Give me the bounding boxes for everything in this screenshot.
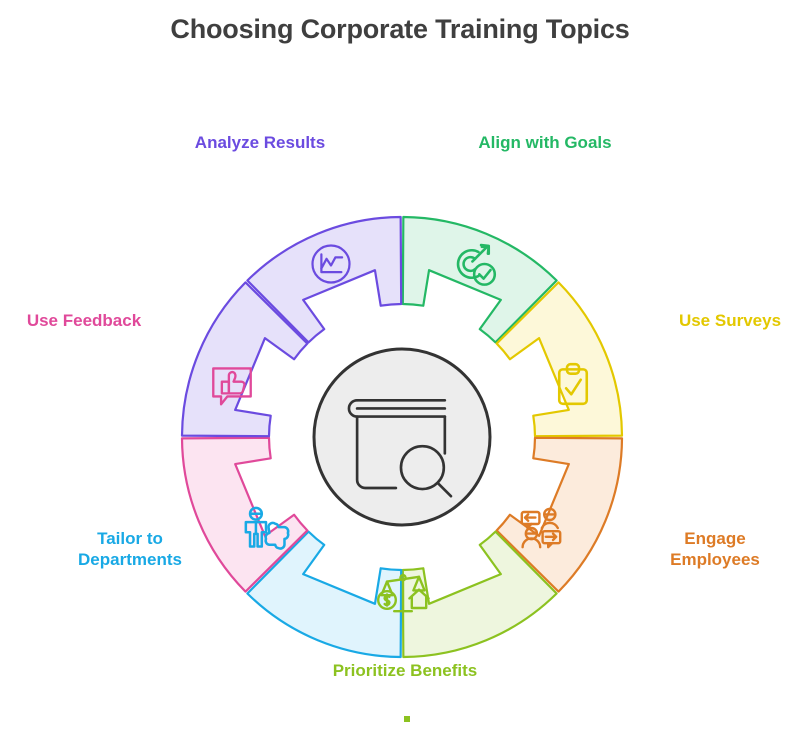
label-engage-employees: Engage Employees <box>620 528 800 571</box>
footer-marker-dot <box>404 716 410 722</box>
wheel-diagram: Analyze Results Align with Goals Use Fee… <box>0 0 800 735</box>
label-tailor-to-departments: Tailor to Departments <box>35 528 225 571</box>
label-align-with-goals: Align with Goals <box>435 132 655 153</box>
label-use-feedback: Use Feedback <box>0 310 174 331</box>
label-use-surveys: Use Surveys <box>640 310 800 331</box>
label-prioritize-benefits: Prioritize Benefits <box>295 660 515 681</box>
wheel-hub <box>314 349 490 525</box>
label-analyze-results: Analyze Results <box>150 132 370 153</box>
wheel-svg <box>0 0 800 735</box>
hub-circle <box>314 349 490 525</box>
